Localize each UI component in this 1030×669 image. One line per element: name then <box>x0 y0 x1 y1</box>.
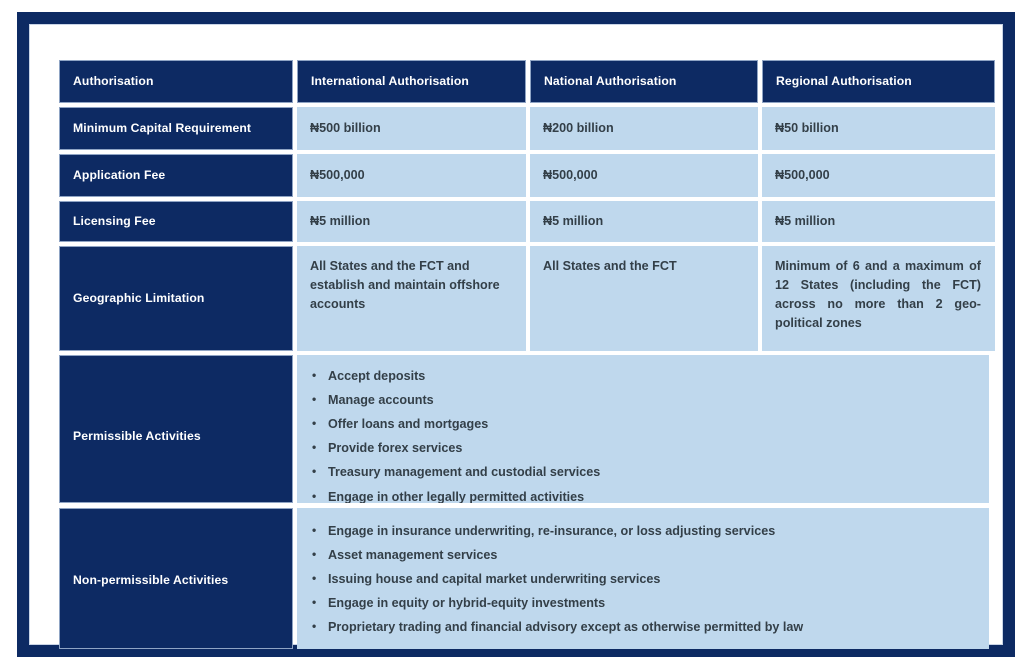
row-label-non-permissible-activities: Non-permissible Activities <box>59 508 293 649</box>
list-item: Treasury management and custodial servic… <box>310 465 975 480</box>
list-item: Proprietary trading and financial adviso… <box>310 620 975 635</box>
list-item: Offer loans and mortgages <box>310 417 975 432</box>
row-label-licensing-fee: Licensing Fee <box>59 201 293 242</box>
permissible-activities-row: Permissible Activities Accept deposits M… <box>59 355 989 503</box>
cell-licensing-fee-regional: ₦5 million <box>762 201 995 242</box>
list-item: Accept deposits <box>310 369 975 384</box>
table-row: Minimum Capital Requirement ₦500 billion… <box>59 107 989 150</box>
cell-geographic-international: All States and the FCT and establish and… <box>297 246 526 351</box>
non-permissible-activities-row: Non-permissible Activities Engage in ins… <box>59 508 989 649</box>
header-cell-authorisation: Authorisation <box>59 60 293 103</box>
cell-geographic-national: All States and the FCT <box>530 246 758 351</box>
list-item: Manage accounts <box>310 393 975 408</box>
list-item: Engage in equity or hybrid-equity invest… <box>310 596 975 611</box>
row-label-geographic-limitation: Geographic Limitation <box>59 246 293 351</box>
list-item: Engage in insurance underwriting, re-ins… <box>310 524 975 539</box>
header-cell-regional: Regional Authorisation <box>762 60 995 103</box>
cell-permissible-activities-list: Accept deposits Manage accounts Offer lo… <box>297 355 989 503</box>
list-item: Provide forex services <box>310 441 975 456</box>
table-row: Licensing Fee ₦5 million ₦5 million ₦5 m… <box>59 201 989 242</box>
permissible-activities-bullets: Accept deposits Manage accounts Offer lo… <box>310 369 975 503</box>
cell-minimum-capital-national: ₦200 billion <box>530 107 758 150</box>
cell-application-fee-national: ₦500,000 <box>530 154 758 197</box>
list-item: Issuing house and capital market underwr… <box>310 572 975 587</box>
header-cell-national: National Authorisation <box>530 60 758 103</box>
row-label-application-fee: Application Fee <box>59 154 293 197</box>
cell-geographic-regional: Minimum of 6 and a maximum of 12 States … <box>762 246 995 351</box>
authorisation-comparison-table: Authorisation International Authorisatio… <box>59 60 989 654</box>
row-label-minimum-capital-requirement: Minimum Capital Requirement <box>59 107 293 150</box>
cell-licensing-fee-national: ₦5 million <box>530 201 758 242</box>
cell-application-fee-international: ₦500,000 <box>297 154 526 197</box>
list-item: Asset management services <box>310 548 975 563</box>
table-header-row: Authorisation International Authorisatio… <box>59 60 989 103</box>
cell-minimum-capital-regional: ₦50 billion <box>762 107 995 150</box>
outer-frame: Authorisation International Authorisatio… <box>17 12 1015 657</box>
table-row: Geographic Limitation All States and the… <box>59 246 989 351</box>
header-cell-international: International Authorisation <box>297 60 526 103</box>
table-row: Application Fee ₦500,000 ₦500,000 ₦500,0… <box>59 154 989 197</box>
cell-application-fee-regional: ₦500,000 <box>762 154 995 197</box>
cell-licensing-fee-international: ₦5 million <box>297 201 526 242</box>
non-permissible-activities-bullets: Engage in insurance underwriting, re-ins… <box>310 524 975 636</box>
cell-non-permissible-activities-list: Engage in insurance underwriting, re-ins… <box>297 508 989 649</box>
list-item: Engage in other legally permitted activi… <box>310 490 975 503</box>
cell-minimum-capital-international: ₦500 billion <box>297 107 526 150</box>
row-label-permissible-activities: Permissible Activities <box>59 355 293 503</box>
